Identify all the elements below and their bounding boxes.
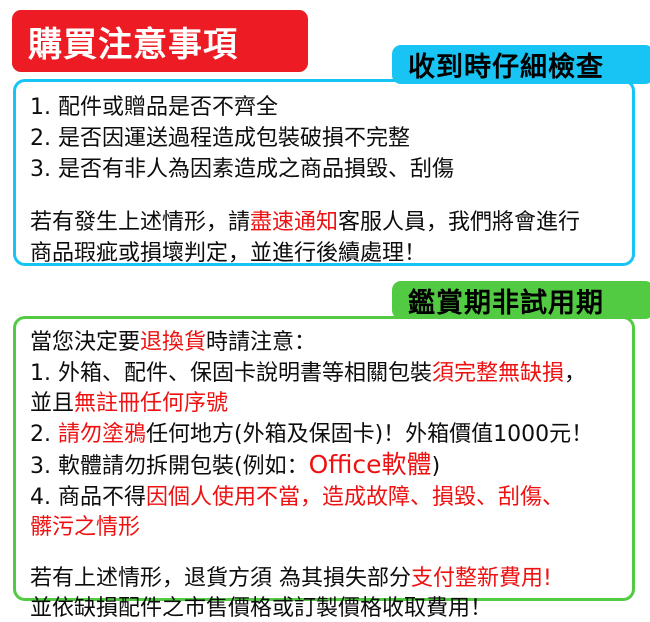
inspect-panel-spacer [30,185,632,207]
trial-closing-line-2: 並依缺損配件之市售價格或訂製價格收取費用！ [30,594,632,622]
badge-trial-period-notice: 鑑賞期非試用期 [392,281,650,319]
trial-item-1-highlight: 須完整無缺損 [432,361,564,386]
badge-trial-period-notice-label: 鑑賞期非試用期 [408,281,604,320]
trial-item-4-text-a: 4. 商品不得 [30,485,146,510]
badge-purchase-notice-label: 購買注意事項 [28,17,238,66]
trial-item-1-text-a: 1. 外箱、配件、保固卡說明書等相關包裝 [30,361,432,386]
trial-closing-highlight: 支付整新費用! [411,566,552,591]
trial-intro-text-b: 時請注意： [206,330,316,355]
trial-item-4-highlight: 因個人使用不當，造成故障、損毀、刮傷、 [146,485,564,510]
inspect-panel-body: 1. 配件或贈品是否不齊全 2. 是否因運送過程造成包裝破損不完整 3. 是否有… [16,82,632,269]
inspect-closing-line-1: 若有發生上述情形，請盡速通知客服人員，我們將會進行 [30,207,632,238]
trial-item-2-text-b: 任何地方(外箱及保固卡)！外箱價值1000元！ [146,422,593,447]
trial-item-1-cont-highlight: 無註冊任何序號 [74,391,228,416]
trial-item-4-line-2: 髒污之情形 [30,513,632,544]
badge-purchase-notice: 購買注意事項 [12,10,308,72]
inspect-closing-highlight: 盡速通知 [250,210,338,235]
inspect-closing-line-2: 商品瑕疵或損壞判定，並進行後續處理！ [30,238,632,269]
trial-item-3-line: 3. 軟體請勿拆開包裝(例如：Office軟體) [30,450,632,483]
trial-item-3-text-a: 3. 軟體請勿拆開包裝(例如： [30,454,309,479]
inspect-panel: 1. 配件或贈品是否不齊全 2. 是否因運送過程造成包裝破損不完整 3. 是否有… [13,79,635,266]
trial-item-1-line-1: 1. 外箱、配件、保固卡說明書等相關包裝須完整無缺損， [30,359,632,390]
trial-closing-text-a: 若有上述情形，退貨方須 為其損失部分 [30,566,411,591]
inspect-list-item: 3. 是否有非人為因素造成之商品損毀、刮傷 [30,154,632,185]
trial-closing-line-1: 若有上述情形，退貨方須 為其損失部分支付整新費用! [30,564,632,595]
inspect-list-item: 2. 是否因運送過程造成包裝破損不完整 [30,123,632,154]
trial-item-2-marker: 2. [30,422,58,447]
trial-panel-spacer [30,544,632,564]
trial-item-4-line-1: 4. 商品不得因個人使用不當，造成故障、損毀、刮傷、 [30,483,632,514]
trial-panel: 當您決定要退換貨時請注意： 1. 外箱、配件、保固卡說明書等相關包裝須完整無缺損… [13,316,635,601]
trial-item-2-highlight: 請勿塗鴉 [58,422,146,447]
trial-item-1-text-b: ， [564,361,586,386]
trial-intro-line: 當您決定要退換貨時請注意： [30,328,632,359]
trial-item-2-line: 2. 請勿塗鴉任何地方(外箱及保固卡)！外箱價值1000元！ [30,420,632,451]
trial-intro-highlight: 退換貨 [140,330,206,355]
inspect-closing-text-a: 若有發生上述情形，請 [30,210,250,235]
trial-item-1-line-2: 並且無註冊任何序號 [30,389,632,420]
trial-item-3-highlight: Office軟體 [309,450,432,479]
inspect-closing-text-b: 客服人員，我們將會進行 [338,210,580,235]
trial-item-1-cont-text: 並且 [30,391,74,416]
trial-intro-text-a: 當您決定要 [30,330,140,355]
trial-panel-body: 當您決定要退換貨時請注意： 1. 外箱、配件、保固卡說明書等相關包裝須完整無缺損… [16,319,632,622]
badge-inspect-on-receipt: 收到時仔細檢查 [392,45,650,84]
inspect-list-item: 1. 配件或贈品是否不齊全 [30,92,632,123]
trial-item-3-text-b: ) [432,454,441,479]
notice-poster: 購買注意事項 收到時仔細檢查 1. 配件或贈品是否不齊全 2. 是否因運送過程造… [0,0,650,622]
badge-inspect-on-receipt-label: 收到時仔細檢查 [408,45,604,84]
